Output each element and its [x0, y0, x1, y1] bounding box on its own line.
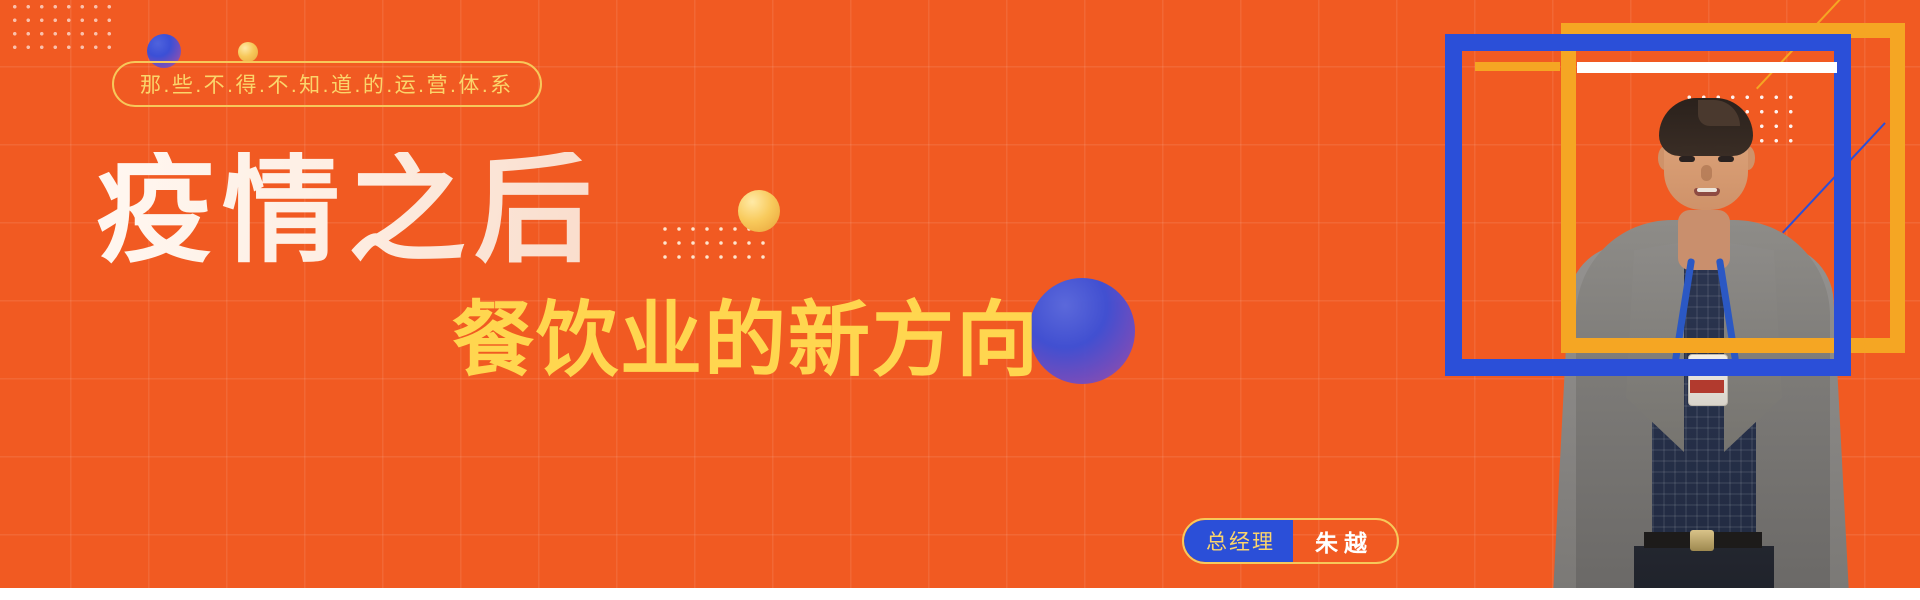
- badge-role-label: 总经理: [1184, 520, 1293, 562]
- main-title: 疫情之后: [96, 152, 600, 270]
- photo-zone: [1430, 0, 1920, 600]
- dot-matrix-icon-top-left: [8, 0, 118, 58]
- sphere-icon-gold-medium: [738, 190, 780, 232]
- name-badge: 总经理 朱越: [1182, 518, 1399, 564]
- photo-frame-gold-tab: [1475, 62, 1560, 71]
- portrait-id-card-strip: [1690, 380, 1724, 393]
- banner-root: 那.些.不.得.不.知.道.的.运.营.体.系 疫情之后 餐饮业的新方向 总经理…: [0, 0, 1920, 600]
- secondary-title: 餐饮业的新方向: [452, 300, 1040, 382]
- sphere-icon-gold-small: [238, 42, 258, 62]
- photo-frame-white-bar: [1577, 62, 1837, 73]
- photo-frame-blue: [1445, 34, 1851, 376]
- portrait-belt-buckle: [1690, 530, 1714, 551]
- badge-name-label: 朱越: [1293, 520, 1397, 562]
- sphere-icon-blue-large: [1029, 278, 1135, 384]
- bottom-white-strip: [0, 588, 1920, 600]
- subtitle-pill-label: 那.些.不.得.不.知.道.的.运.营.体.系: [140, 69, 514, 99]
- subtitle-pill: 那.些.不.得.不.知.道.的.运.营.体.系: [112, 61, 542, 107]
